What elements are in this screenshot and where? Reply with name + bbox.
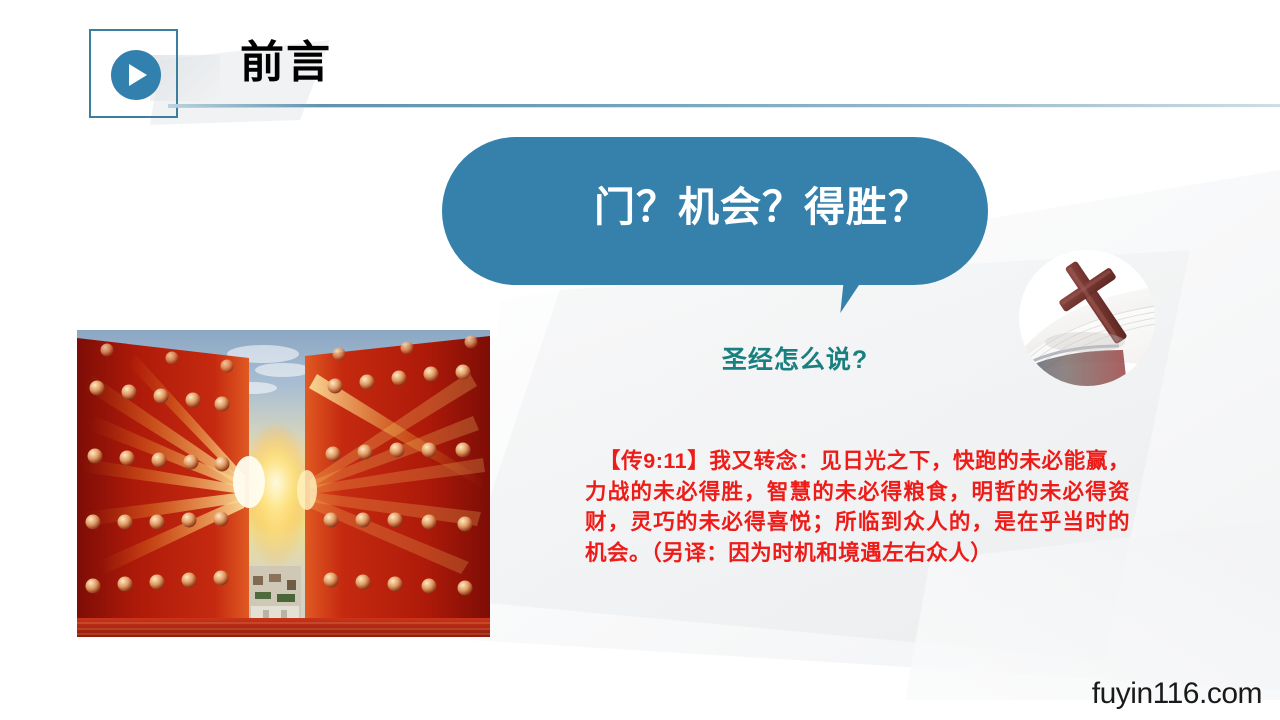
- speech-bubble-text: 门？机会？得胜？: [562, 187, 962, 228]
- slide-header: 前言: [0, 0, 1280, 120]
- open-red-doors-illustration: [77, 330, 490, 637]
- page-title: 前言: [240, 41, 332, 85]
- speech-bubble: 门？机会？得胜？: [442, 137, 988, 285]
- site-watermark: fuyin116.com: [1092, 677, 1262, 711]
- scripture-text: 【传9:11】我又转念：见日光之下，快跑的未必能赢，力战的未必得胜，智慧的未必得…: [585, 446, 1130, 568]
- play-triangle-icon: [129, 64, 147, 86]
- header-divider-shadow: [168, 107, 1280, 108]
- cross-on-bible-illustration: [1019, 250, 1155, 386]
- sub-heading: 圣经怎么说?: [595, 340, 995, 376]
- speech-bubble-tail: [840, 281, 881, 313]
- play-button-icon[interactable]: [111, 50, 161, 100]
- open-red-doors-image: [77, 330, 490, 637]
- wooden-cross-on-bible-image: [1019, 250, 1155, 386]
